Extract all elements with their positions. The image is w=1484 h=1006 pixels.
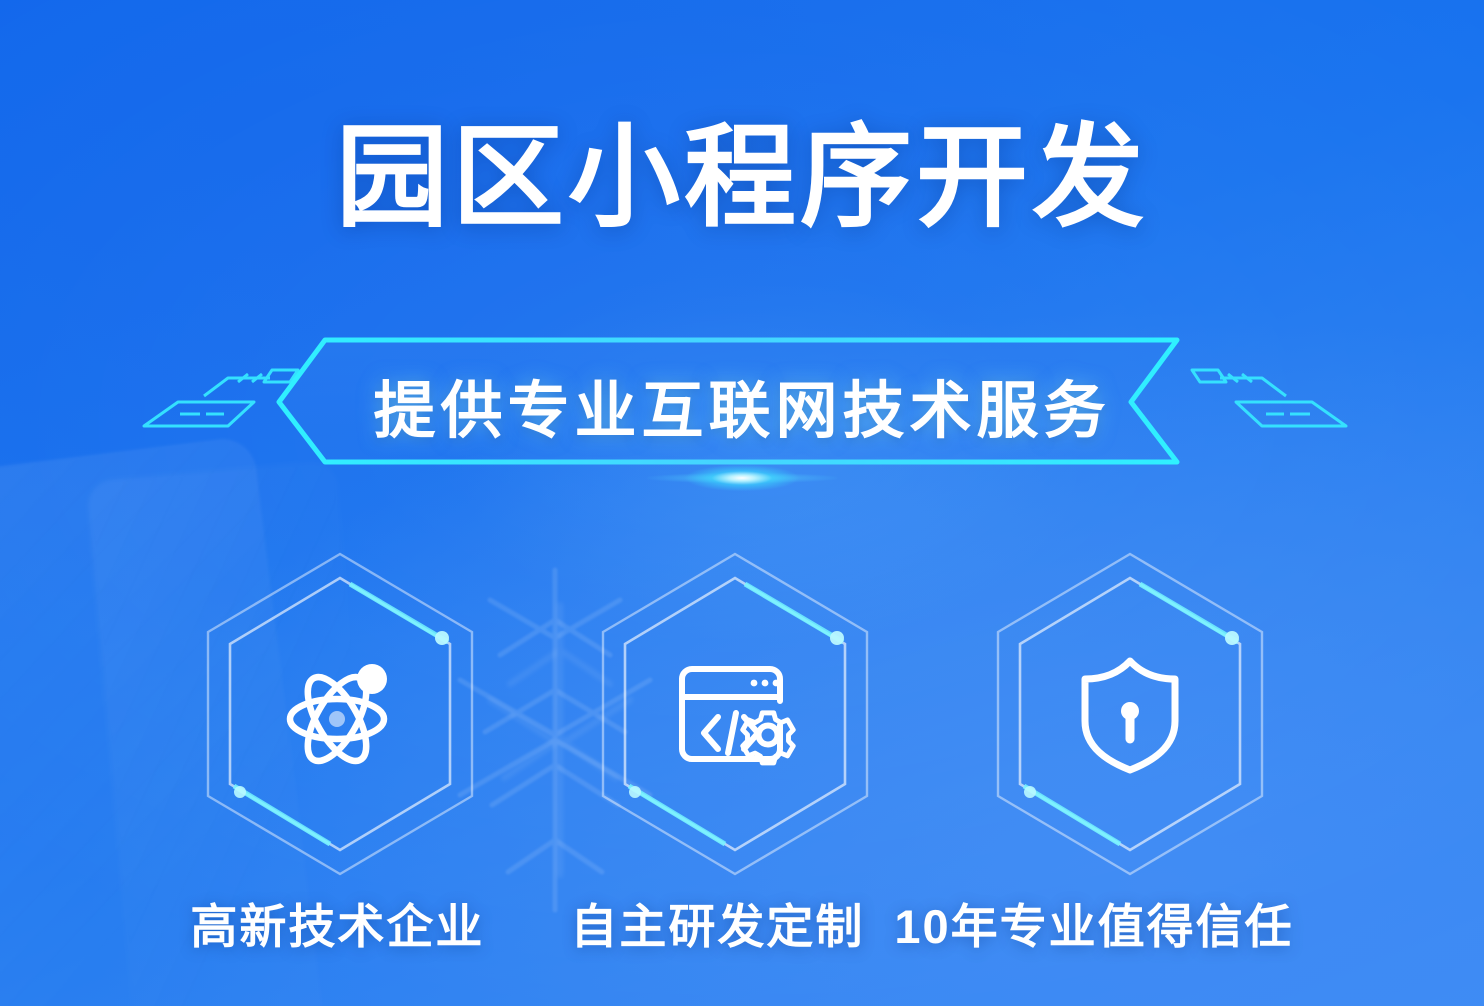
shield-lock-icon: [1055, 639, 1205, 789]
feature-hexagon-3[interactable]: [980, 548, 1280, 880]
code-window-gear-icon: [660, 639, 810, 789]
tech-lines-right-icon: [1178, 352, 1358, 448]
feature-hexagon-1[interactable]: [190, 548, 490, 880]
feature-captions: 高新技术企业 自主研发定制 10年专业值得信任: [0, 888, 1484, 957]
promo-banner: 园区小程序开发: [0, 0, 1484, 1006]
caption-in-house-development: 自主研发定制: [570, 888, 864, 957]
subtitle-banner: 提供专业互联网技术服务: [0, 336, 1484, 486]
lens-flare-spark-icon: [647, 458, 837, 498]
page-title: 园区小程序开发: [0, 118, 1484, 239]
caption-high-tech-enterprise: 高新技术企业: [190, 888, 484, 957]
feature-hexagon-row: [0, 548, 1484, 888]
atom-icon: [265, 639, 415, 789]
caption-ten-years-trust: 10年专业值得信任: [894, 888, 1293, 957]
feature-hexagon-2[interactable]: [585, 548, 885, 880]
